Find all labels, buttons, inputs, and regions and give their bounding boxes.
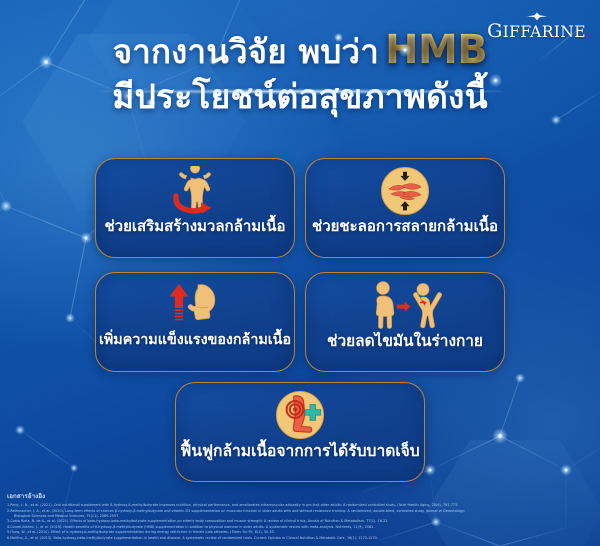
bicep-up-arrow-icon [164, 280, 226, 330]
flexing-figure-icon [164, 166, 226, 216]
injury-recovery-icon [275, 390, 325, 440]
benefit-card-label: ช่วยเสริมสร้างมวลกล้ามเนื้อ [104, 219, 285, 235]
headline-line-1-text: จากงานวิจัย พบว่า [113, 32, 379, 71]
benefit-card-increase-strength[interactable]: เพิ่มความแข็งแรงของกล้ามเนื้อ [95, 272, 295, 372]
benefit-card-label: ช่วยลดไขมันในร่างกาย [327, 333, 483, 349]
crown-ornament-icon [526, 12, 548, 21]
benefit-card-reduce-body-fat[interactable]: ช่วยลดไขมันในร่างกาย [305, 272, 505, 372]
benefit-card-recover-from-injury[interactable]: ฟื้นฟูกล้ามเนื้อจากการได้รับบาดเจ็บ [175, 382, 425, 482]
reference-item: 6.Molfino, A., et al. (2013). Beta-hydro… [7, 536, 595, 541]
references-title: เอกสารอ้างอิง [7, 491, 595, 501]
headline-line-1: จากงานวิจัย พบว่าHMB [0, 28, 600, 73]
infographic-canvas: GGiffarineIFFARINE จากงานวิจัย พบว่าHMB … [0, 0, 600, 546]
headline-block: จากงานวิจัย พบว่าHMB มีประโยชน์ต่อสุขภาพ… [0, 28, 600, 115]
headline-line-2: มีประโยชน์ต่อสุขภาพดังนี้ [0, 78, 600, 116]
muscle-fiber-icon [380, 166, 430, 216]
body-transform-icon [366, 280, 444, 330]
benefit-card-label: เพิ่มความแข็งแรงของกล้ามเนื้อ [99, 333, 291, 348]
hmb-highlight: HMB [379, 27, 487, 73]
benefit-card-label: ช่วยชะลอการสลายกล้ามเนื้อ [312, 219, 498, 235]
benefit-card-slow-muscle-breakdown[interactable]: ช่วยชะลอการสลายกล้ามเนื้อ [305, 158, 505, 258]
benefit-card-label: ฟื้นฟูกล้ามเนื้อจากการได้รับบาดเจ็บ [180, 443, 419, 459]
headline-divider [80, 88, 520, 95]
references-block: เอกสารอ้างอิง 1.Peng, L. N., et al. (202… [7, 491, 595, 541]
benefit-card-build-muscle-mass[interactable]: ช่วยเสริมสร้างมวลกล้ามเนื้อ [95, 158, 295, 258]
